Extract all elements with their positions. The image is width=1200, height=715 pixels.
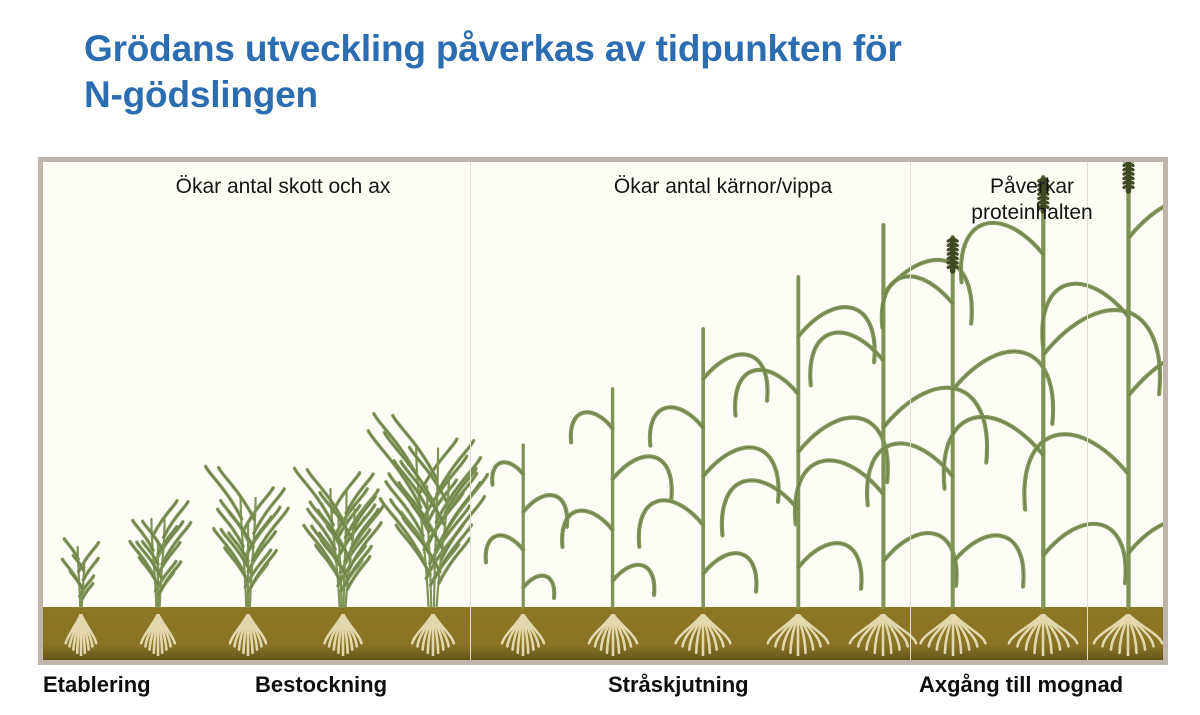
plant-roots: [140, 614, 177, 656]
panel-divider-1: [470, 162, 471, 660]
caption-increases-kernels-per-panicle: Ökar antal kärnor/vippa: [523, 174, 923, 200]
plant-tillering: [383, 447, 482, 607]
plant-seedling: [51, 547, 111, 607]
plant-roots: [323, 614, 363, 656]
panel-divider-2: [910, 162, 911, 660]
plant-tillering: [214, 497, 282, 607]
panel-divider-3: [1087, 162, 1088, 660]
page-title: Grödans utveckling påverkas av tidpunkte…: [84, 26, 1084, 117]
phase-label-etablering: Etablering: [43, 672, 151, 698]
plant-roots: [1006, 614, 1080, 656]
caption-increases-shoots-and-ears: Ökar antal skott och ax: [73, 174, 493, 200]
plant-roots: [765, 614, 831, 656]
crop-development-illustration: Ökar antal skott och ax Ökar antal kärno…: [38, 157, 1168, 665]
plant-ripening: [989, 162, 1164, 607]
plant-roots: [673, 614, 732, 656]
plant-roots: [847, 614, 919, 656]
plant-layer: [43, 162, 1163, 660]
plant-roots: [1091, 614, 1163, 656]
phase-label-axgang-till-mognad: Axgång till mognad: [919, 672, 1123, 698]
plant-roots: [500, 614, 545, 656]
plant-roots: [410, 614, 455, 656]
caption-affects-protein-content: Påverkar proteinhalten: [943, 174, 1121, 225]
plant-roots: [587, 614, 639, 656]
plant-roots: [64, 614, 97, 656]
plant-seedling: [128, 519, 188, 607]
plant-tillering: [306, 489, 379, 607]
plant-roots: [228, 614, 267, 656]
illustration-canvas: Ökar antal skott och ax Ökar antal kärno…: [43, 162, 1163, 660]
phase-label-straskjutning: Stråskjutning: [608, 672, 749, 698]
plant-roots: [918, 614, 988, 656]
phase-label-bestockning: Bestockning: [255, 672, 387, 698]
